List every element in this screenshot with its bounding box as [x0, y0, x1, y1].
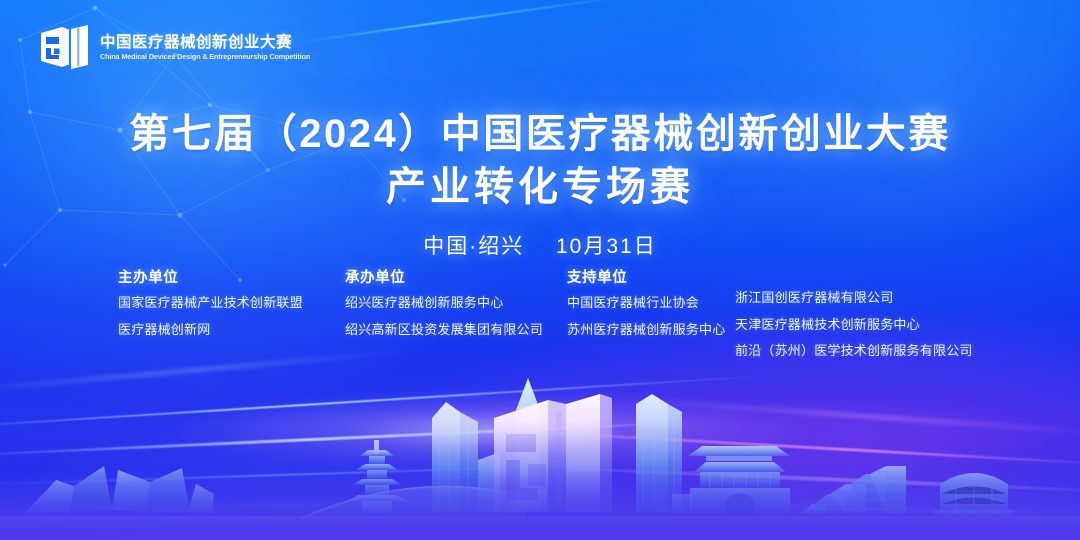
competition-logo-mark-icon [38, 24, 90, 70]
header-logo[interactable]: 中国医疗器械创新创业大赛 China Medical Devices Desig… [38, 24, 317, 70]
event-location: 中国·绍兴 [423, 235, 524, 258]
organizer-column-support: 支持单位 中国医疗器械行业协会 苏州医疗器械创新服务中心 [567, 266, 735, 336]
title-line-2: 产业转化专场赛 [0, 161, 1080, 214]
logo-english-name: China Medical Devices Design & Entrepren… [100, 53, 310, 62]
organizer-item: 中国医疗器械行业协会 [567, 296, 735, 310]
event-banner: 中国医疗器械创新创业大赛 China Medical Devices Desig… [0, 0, 1080, 540]
organizer-column-undertaker: 承办单位 绍兴医疗器械创新服务中心 绍兴高新区投资发展集团有限公司 [345, 266, 567, 336]
logo-text-block: 中国医疗器械创新创业大赛 China Medical Devices Desig… [100, 32, 317, 63]
bottom-base-shade [0, 420, 1080, 540]
organizer-item: 国家医疗器械产业技术创新联盟 [118, 296, 345, 310]
light-streak-top [282, 0, 646, 46]
event-date: 10月31日 [556, 235, 657, 258]
title-block: 第七届（2024）中国医疗器械创新创业大赛 产业转化专场赛 中国·绍兴 10月3… [0, 108, 1080, 260]
organizer-item: 浙江国创医疗器械有限公司 [735, 291, 995, 305]
organizer-item: 绍兴医疗器械创新服务中心 [345, 296, 567, 310]
event-subtitle: 中国·绍兴 10月31日 [0, 230, 1080, 260]
organizer-columns: 主办单位 国家医疗器械产业技术创新联盟 医疗器械创新网 承办单位 绍兴医疗器械创… [118, 266, 998, 358]
organizer-item: 绍兴高新区投资发展集团有限公司 [345, 323, 567, 337]
organizer-heading: 支持单位 [567, 266, 735, 287]
organizer-item: 前沿（苏州）医学技术创新服务有限公司 [735, 344, 995, 358]
organizer-item: 天津医疗器械技术创新服务中心 [735, 318, 995, 332]
title-line-1: 第七届（2024）中国医疗器械创新创业大赛 [0, 108, 1080, 161]
organizer-heading: 主办单位 [118, 266, 345, 287]
organizer-item: 医疗器械创新网 [118, 323, 345, 337]
logo-chinese-name: 中国医疗器械创新创业大赛 [100, 34, 317, 52]
organizer-heading: 承办单位 [345, 266, 567, 287]
organizer-column-support-continued: 浙江国创医疗器械有限公司 天津医疗器械技术创新服务中心 前沿（苏州）医学技术创新… [735, 266, 995, 358]
organizer-column-host: 主办单位 国家医疗器械产业技术创新联盟 医疗器械创新网 [118, 266, 345, 336]
organizer-item: 苏州医疗器械创新服务中心 [567, 323, 735, 337]
